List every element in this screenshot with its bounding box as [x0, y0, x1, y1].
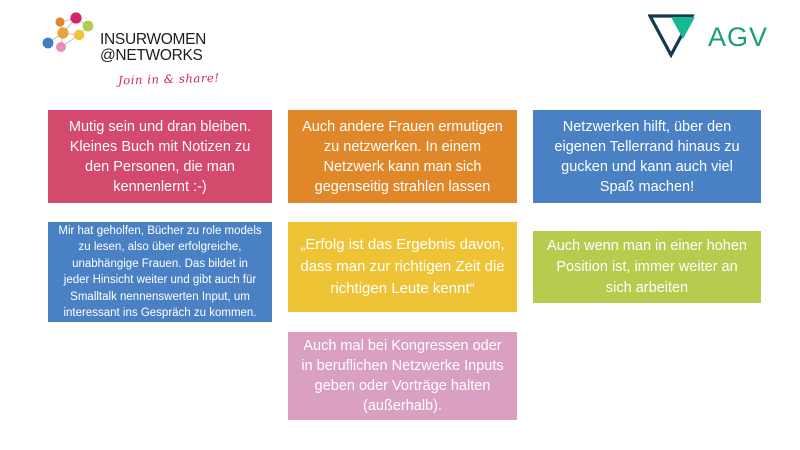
quote-card-buecher-role-models: Mir hat geholfen, Bücher zu role models …: [48, 222, 272, 322]
quote-card-mutig-sein: Mutig sein und dran bleiben. Kleines Buc…: [48, 110, 272, 203]
quote-card-kongresse-vortraege: Auch mal bei Kongressen oder in beruflic…: [288, 332, 517, 420]
quote-text: Mutig sein und dran bleiben. Kleines Buc…: [58, 117, 262, 197]
logo-line-1: INSURWOMEN: [100, 32, 212, 48]
logo-tagline: Join in & share!: [118, 71, 220, 88]
agv-logo: AGV: [648, 12, 766, 64]
quote-text: Auch wenn man in einer hohen Position is…: [543, 236, 751, 299]
logo-line-2: @NETWORKS: [100, 48, 212, 64]
agv-wordmark: AGV: [708, 22, 768, 53]
quote-text: Auch mal bei Kongressen oder in beruflic…: [298, 336, 507, 416]
quote-card-andere-frauen-ermutigen: Auch andere Frauen ermutigen zu netzwerk…: [288, 110, 517, 203]
quote-text: „Erfolg ist das Ergebnis davon, dass man…: [298, 234, 507, 300]
network-dots-icon: [36, 10, 98, 58]
quote-text: Mir hat geholfen, Bücher zu role models …: [58, 223, 262, 322]
quote-card-netzwerken-hilft: Netzwerken hilft, über den eigenen Telle…: [533, 110, 761, 203]
quote-card-erfolg-ist-das-ergebnis: „Erfolg ist das Ergebnis davon, dass man…: [288, 222, 517, 312]
quote-text: Auch andere Frauen ermutigen zu netzwerk…: [298, 117, 507, 197]
slide-header: INSURWOMEN @NETWORKS Join in & share! AG…: [0, 0, 800, 100]
quote-card-hohe-position: Auch wenn man in einer hohen Position is…: [533, 231, 761, 303]
insurwomen-wordmark: INSURWOMEN @NETWORKS: [100, 32, 212, 64]
agv-triangle-icon: [648, 12, 700, 58]
insurwomen-networks-logo: INSURWOMEN @NETWORKS Join in & share!: [36, 10, 211, 90]
quote-text: Netzwerken hilft, über den eigenen Telle…: [543, 117, 751, 197]
